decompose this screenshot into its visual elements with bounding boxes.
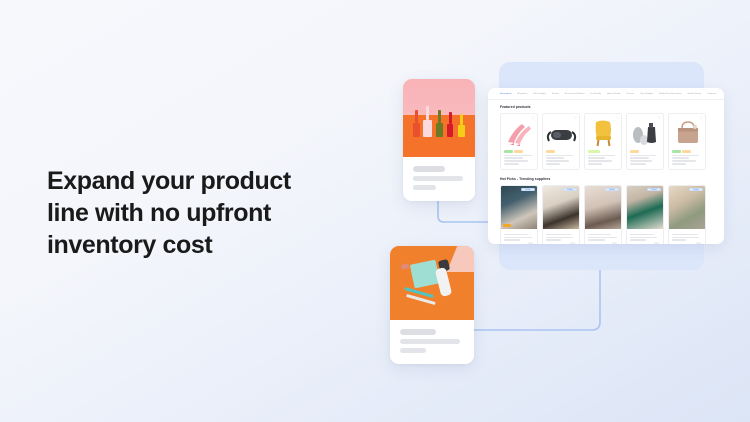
supplier-image: Follow	[627, 186, 663, 229]
product-image: ♡	[501, 114, 537, 148]
placeholder-line	[672, 163, 687, 165]
nav-item-toys-hobbies[interactable]: Toys & Hobbies	[640, 93, 653, 95]
placeholder-line	[400, 329, 436, 335]
stationery-image	[390, 246, 474, 320]
supplier-image: Follow	[501, 186, 537, 229]
nav-item-furniture[interactable]: Furniture	[627, 93, 635, 95]
supplier-card-textile[interactable]: Follow	[542, 185, 580, 244]
badge	[588, 150, 600, 153]
supplier-image: Follow	[669, 186, 705, 229]
product-image: ♡	[669, 114, 705, 148]
placeholder-line	[588, 237, 617, 239]
product-meta	[669, 148, 705, 170]
supplier-card-coffee-bar[interactable]: Follow	[500, 185, 538, 244]
supplier-image: Follow	[585, 186, 621, 229]
placeholder-line	[546, 160, 570, 162]
favorite-icon[interactable]: ♡	[657, 116, 661, 120]
placeholder-line	[672, 160, 696, 162]
product-badges	[504, 150, 535, 153]
favorite-icon[interactable]: ♡	[531, 116, 535, 120]
hot-picks-title: Hot Picks - Trending suppliers	[500, 177, 724, 181]
badge	[504, 150, 513, 153]
favorite-icon[interactable]: ♡	[615, 116, 619, 120]
nav-item-computers[interactable]: Computers	[707, 93, 716, 95]
placeholder-line	[546, 237, 574, 239]
placeholder-line	[504, 160, 528, 162]
supplier-avatar	[526, 241, 535, 244]
placeholder-line	[413, 176, 463, 181]
supplier-card-tableware[interactable]: Follow	[668, 185, 706, 244]
placeholder-line	[672, 234, 698, 236]
product-badges	[588, 150, 619, 153]
placeholder-line	[630, 239, 646, 241]
placeholder-line	[504, 155, 533, 157]
nail-polish-image	[403, 79, 475, 157]
placeholder-line	[504, 163, 520, 165]
hot-picks-row: Follow Follow	[500, 185, 724, 244]
placeholder-line	[504, 234, 528, 236]
headline-line-3: inventory cost	[47, 230, 347, 262]
nav-item-mobile-accessories[interactable]: Mobile Phone Accessories	[659, 93, 681, 95]
placeholder-line	[672, 157, 689, 159]
supplier-card-dining-room[interactable]: Follow	[584, 185, 622, 244]
placeholder-line	[588, 155, 616, 157]
badge	[546, 150, 555, 153]
favorite-icon[interactable]: ♡	[573, 116, 577, 120]
promo-tag	[503, 224, 511, 226]
nav-item-all-products[interactable]: All products	[518, 93, 528, 95]
featured-products-title: Featured products	[500, 105, 724, 109]
follow-badge[interactable]: Follow	[521, 188, 535, 191]
supplier-avatar	[568, 241, 577, 244]
hot-picks-section: Hot Picks - Trending suppliers Follow	[488, 170, 724, 244]
product-card-ceramic-vases[interactable]: ♡	[626, 113, 664, 171]
supplier-avatar	[694, 241, 703, 244]
placeholder-line	[400, 339, 460, 344]
follow-badge[interactable]: Follow	[605, 188, 619, 191]
badge	[630, 150, 639, 153]
nav-item-accessories-watches[interactable]: Accessories & Watches	[565, 93, 585, 95]
page-title: Expand your product line with no upfront…	[47, 166, 347, 261]
headline-line-2: line with no upfront	[47, 198, 347, 230]
placeholder-line	[588, 160, 613, 162]
placeholder-line	[413, 166, 445, 172]
nail-polish-card-body	[403, 157, 475, 201]
product-meta	[543, 148, 579, 170]
product-card-pink-heels[interactable]: ♡	[500, 113, 538, 171]
placeholder-line	[546, 157, 565, 159]
placeholder-line	[400, 348, 426, 353]
nav-item-new-products[interactable]: New products	[500, 93, 512, 95]
supplier-avatar	[610, 241, 619, 244]
placeholder-line	[672, 239, 687, 241]
placeholder-line	[546, 234, 571, 236]
product-meta	[501, 148, 537, 170]
product-image: ♡	[627, 114, 663, 148]
product-badges	[672, 150, 703, 153]
nail-polish-card[interactable]	[403, 79, 475, 201]
placeholder-line	[630, 163, 646, 165]
product-image: ♡	[543, 114, 579, 148]
nav-item-gift-gadgets[interactable]: Gift & Gadgets	[534, 93, 546, 95]
placeholder-line	[588, 163, 602, 165]
placeholder-line	[588, 234, 612, 236]
placeholder-line	[672, 237, 700, 239]
follow-badge[interactable]: Follow	[563, 188, 577, 191]
placeholder-line	[630, 157, 650, 159]
placeholder-line	[630, 234, 655, 236]
placeholder-line	[504, 157, 523, 159]
placeholder-line	[546, 155, 573, 157]
placeholder-line	[630, 160, 653, 162]
placeholder-line	[546, 163, 561, 165]
nav-item-health-beauty[interactable]: Health & Beauty	[688, 93, 702, 95]
stationery-card[interactable]	[390, 246, 474, 364]
nav-item-eco-friendly[interactable]: Eco Friendly	[591, 93, 602, 95]
product-meta	[585, 148, 621, 170]
follow-badge[interactable]: Follow	[647, 188, 661, 191]
featured-products-section: Featured products ♡	[488, 100, 724, 170]
product-image: ♡	[585, 114, 621, 148]
placeholder-line	[630, 237, 657, 239]
placeholder-line	[588, 157, 606, 159]
supplier-avatar	[652, 241, 661, 244]
product-meta	[627, 148, 663, 170]
placeholder-line	[672, 155, 700, 157]
product-card-vr-headset[interactable]: ♡	[542, 113, 580, 171]
badge	[672, 150, 681, 153]
badge	[682, 150, 691, 153]
headline-line-1: Expand your product	[47, 166, 347, 198]
stationery-card-body	[390, 320, 474, 364]
favorite-icon[interactable]: ♡	[699, 116, 703, 120]
placeholder-line	[413, 185, 436, 190]
product-card-yellow-armchair[interactable]: ♡	[584, 113, 622, 171]
featured-products-row: ♡	[500, 113, 724, 171]
badge	[514, 150, 523, 153]
marketplace-screen: New products All products Gift & Gadgets…	[488, 88, 724, 244]
supplier-image: Follow	[543, 186, 579, 229]
placeholder-line	[504, 237, 533, 239]
supplier-card-green-pitcher[interactable]: Follow	[626, 185, 664, 244]
placeholder-line	[630, 155, 657, 157]
nav-item-fashion[interactable]: Fashion	[552, 93, 559, 95]
follow-badge[interactable]: Follow	[689, 188, 703, 191]
nav-item-home-garden[interactable]: Home & Garden	[607, 93, 621, 95]
product-badges	[546, 150, 577, 153]
placeholder-line	[504, 239, 521, 241]
product-card-leather-handbag[interactable]: ♡	[668, 113, 706, 171]
placeholder-line	[546, 239, 562, 241]
category-nav[interactable]: New products All products Gift & Gadgets…	[488, 88, 724, 100]
product-badges	[630, 150, 661, 153]
placeholder-line	[588, 239, 605, 241]
marketplace-panel: New products All products Gift & Gadgets…	[499, 62, 704, 270]
